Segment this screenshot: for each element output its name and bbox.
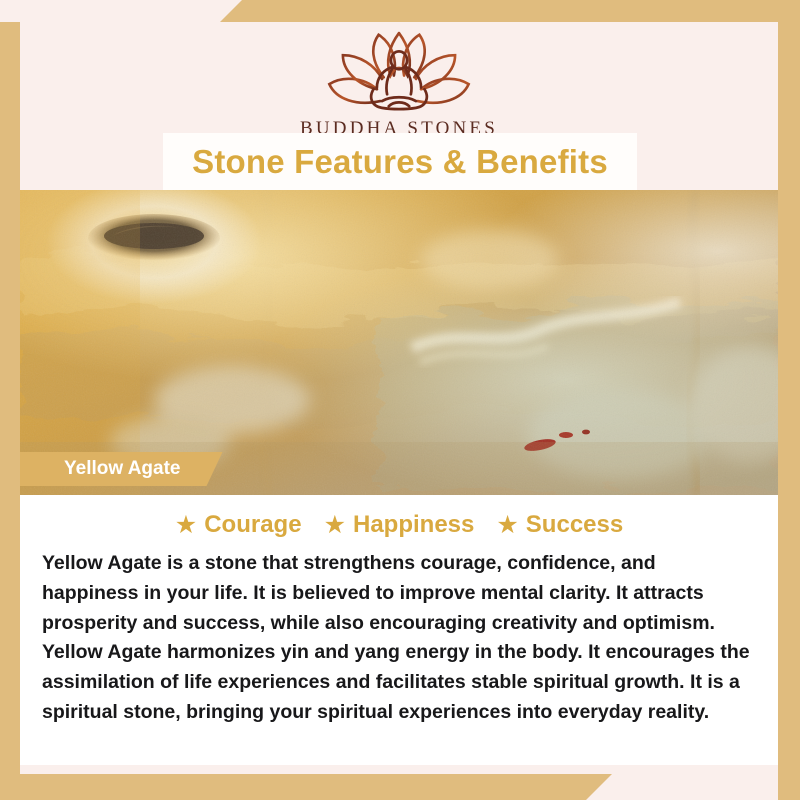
gold-border-right (778, 0, 800, 800)
lotus-meditation-figure-icon (314, 28, 484, 116)
keyword-label: Success (526, 511, 623, 539)
gold-border-top (220, 0, 800, 22)
keyword-item-courage: ★ Courage (175, 511, 302, 539)
brand-logo: BUDDHA STONES (20, 28, 778, 140)
star-icon: ★ (175, 513, 197, 538)
keyword-label: Happiness (353, 511, 474, 539)
title-banner: Stone Features & Benefits (163, 133, 637, 190)
gold-border-left (0, 22, 20, 800)
gold-border-bottom (0, 774, 612, 800)
stone-description: Yellow Agate is a stone that strengthens… (42, 549, 756, 728)
keyword-item-happiness: ★ Happiness (324, 511, 475, 539)
keyword-item-success: ★ Success (496, 511, 623, 539)
content-card: ★ Courage ★ Happiness ★ Success Yellow A… (20, 495, 778, 765)
star-icon: ★ (324, 513, 346, 538)
stone-name-tag: Yellow Agate (20, 452, 223, 486)
stone-name: Yellow Agate (64, 458, 181, 480)
star-icon: ★ (496, 513, 518, 538)
page-title: Stone Features & Benefits (192, 143, 608, 181)
keyword-list: ★ Courage ★ Happiness ★ Success (20, 495, 778, 539)
stone-photo (20, 190, 778, 495)
keyword-label: Courage (204, 511, 301, 539)
product-infographic: BUDDHA STONES Stone Features & Benefits (0, 0, 800, 800)
